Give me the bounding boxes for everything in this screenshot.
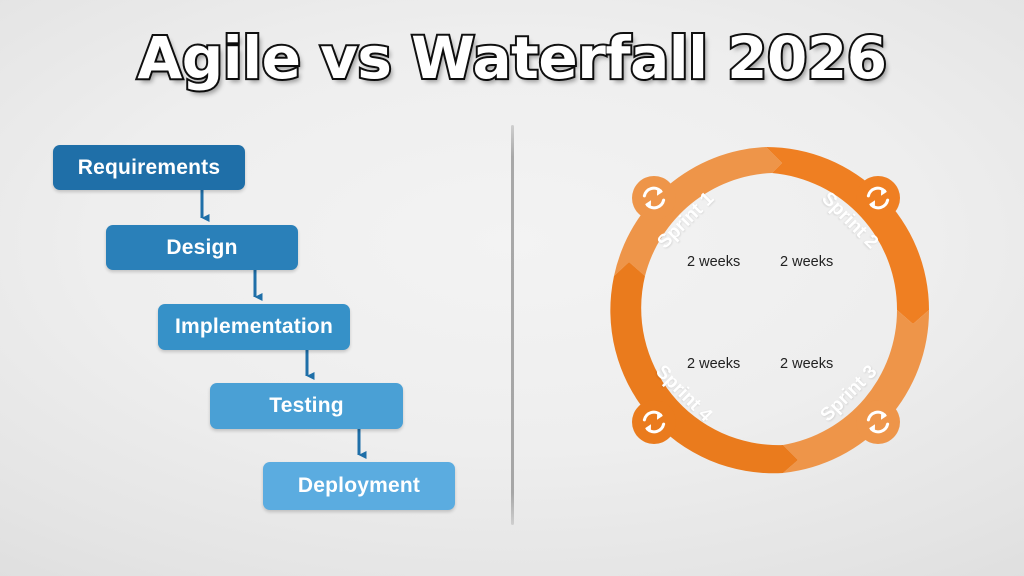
duration-label-sprint-2: 2 weeks bbox=[780, 254, 833, 270]
waterfall-stage-design[interactable]: Design bbox=[106, 225, 298, 270]
duration-label-sprint-1: 2 weeks bbox=[687, 254, 740, 270]
stage-label: Requirements bbox=[78, 156, 220, 180]
waterfall-stage-implementation[interactable]: Implementation bbox=[158, 304, 350, 350]
waterfall-stage-testing[interactable]: Testing bbox=[210, 383, 403, 429]
duration-label-sprint-3: 2 weeks bbox=[780, 356, 833, 372]
stage-label: Design bbox=[166, 236, 237, 260]
agile-diagram: Sprint 1 Sprint 2 Sprint 3 Sprint 4 2 we… bbox=[511, 0, 1024, 576]
waterfall-stage-requirements[interactable]: Requirements bbox=[53, 145, 245, 190]
cycle-icon-sprint-3 bbox=[856, 400, 900, 444]
sprint-donut: Sprint 1 Sprint 2 Sprint 3 Sprint 4 2 we… bbox=[586, 135, 946, 485]
stage-label: Deployment bbox=[298, 474, 420, 498]
waterfall-diagram: Requirements Design Implementation Testi… bbox=[0, 0, 511, 576]
duration-label-sprint-4: 2 weeks bbox=[687, 356, 740, 372]
cycle-icon-sprint-2 bbox=[856, 176, 900, 220]
cycle-icon-sprint-4 bbox=[632, 400, 676, 444]
stage-label: Testing bbox=[269, 394, 344, 418]
waterfall-stage-deployment[interactable]: Deployment bbox=[263, 462, 455, 510]
cycle-icon-sprint-1 bbox=[632, 176, 676, 220]
sprint-donut-svg bbox=[586, 135, 946, 485]
stage-label: Implementation bbox=[175, 315, 333, 339]
slide-canvas: Agile vs Waterfall 2026 Requirements Des… bbox=[0, 0, 1024, 576]
